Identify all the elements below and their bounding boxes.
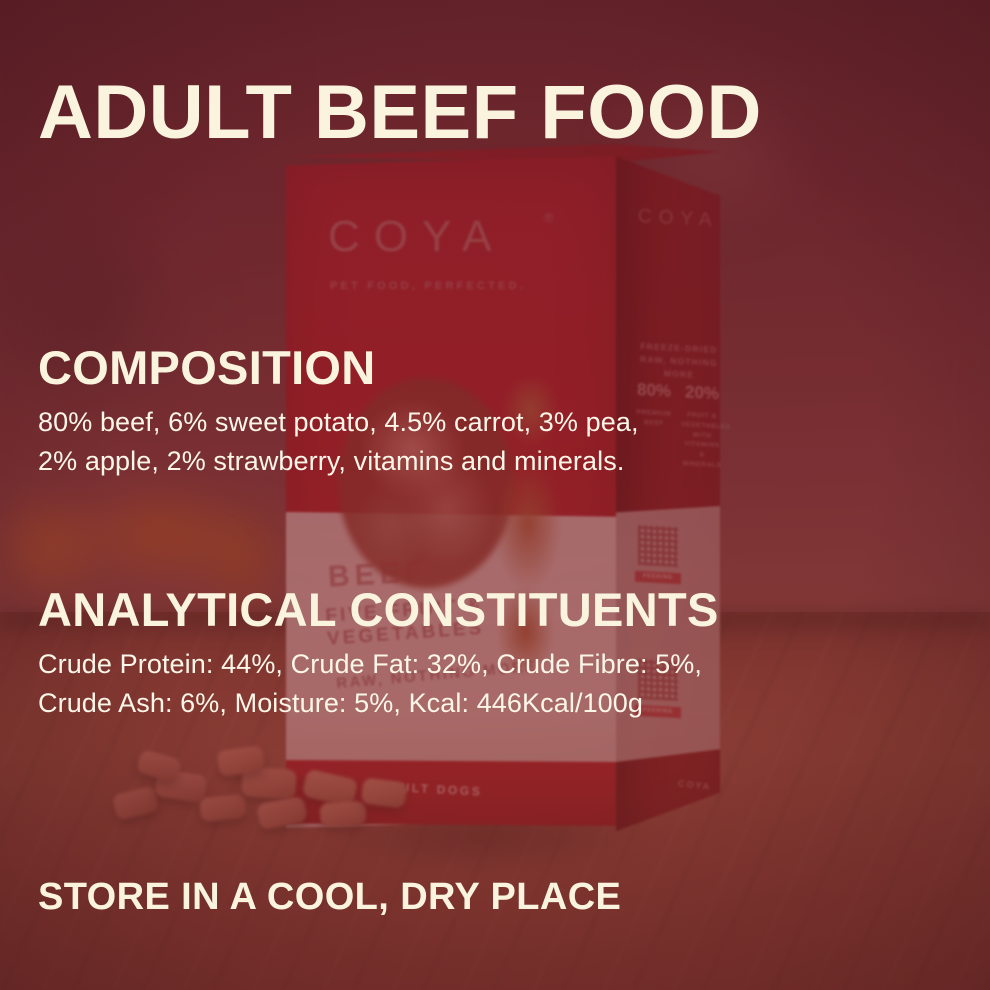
section-composition-line: 80% beef, 6% sweet potato, 4.5% carrot, … xyxy=(38,403,910,442)
section-analytical-constituents: ANALYTICAL CONSTITUENTS Crude Protein: 4… xyxy=(38,586,910,723)
section-composition-title: COMPOSITION xyxy=(38,344,910,391)
section-analytical-title: ANALYTICAL CONSTITUENTS xyxy=(38,586,910,633)
page-title: ADULT BEEF FOOD xyxy=(38,76,818,150)
text-overlay: ADULT BEEF FOOD COMPOSITION 80% beef, 6%… xyxy=(0,0,990,990)
section-analytical-line: Crude Protein: 44%, Crude Fat: 32%, Crud… xyxy=(38,645,910,684)
section-analytical-line: Crude Ash: 6%, Moisture: 5%, Kcal: 446Kc… xyxy=(38,684,910,723)
section-composition: COMPOSITION 80% beef, 6% sweet potato, 4… xyxy=(38,344,910,481)
section-composition-body: 80% beef, 6% sweet potato, 4.5% carrot, … xyxy=(38,403,910,481)
product-info-panel: COYA ® PET FOOD, PERFECTED. BEEF FIVE FR… xyxy=(0,0,990,990)
storage-instruction: STORE IN A COOL, DRY PLACE xyxy=(38,876,621,919)
section-composition-line: 2% apple, 2% strawberry, vitamins and mi… xyxy=(38,442,910,481)
section-analytical-body: Crude Protein: 44%, Crude Fat: 32%, Crud… xyxy=(38,645,910,723)
